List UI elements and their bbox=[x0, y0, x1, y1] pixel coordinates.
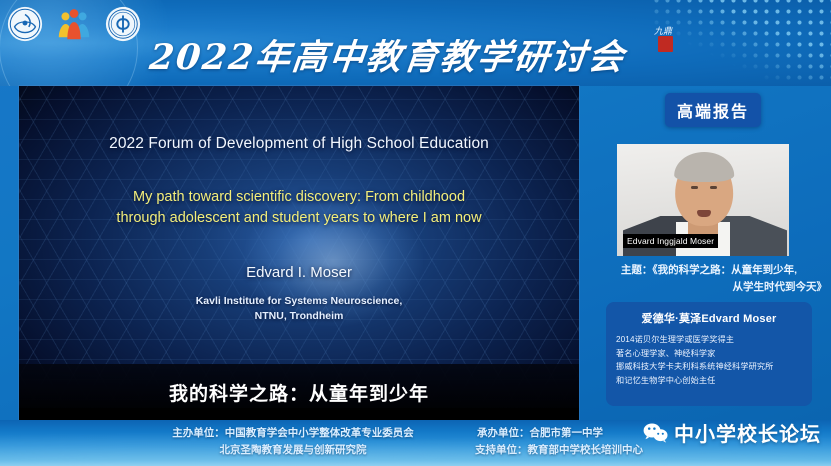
slide-affiliation: Kavli Institute for Systems Neuroscience… bbox=[19, 294, 579, 324]
red-seal-stamp bbox=[658, 36, 673, 52]
status-badge: 高端报告 bbox=[665, 93, 761, 127]
bio-line: 2014诺贝尔生理学或医学奖得主 bbox=[616, 333, 802, 347]
speaker-info-panel: 高端报告 Edvard Inggjald Moser 主题：《我的科学之路：从童… bbox=[585, 86, 831, 420]
watermark-label: 中小学校长论坛 bbox=[674, 418, 821, 447]
slide-affiliation-line2: NTNU, Trondheim bbox=[19, 309, 579, 324]
eye-right bbox=[710, 186, 717, 189]
bio-line: 著名心理学家、神经科学家 bbox=[616, 347, 802, 361]
slide-subtitle-line2: through adolescent and student years to … bbox=[19, 208, 579, 229]
speaker-bio-box: 爱德华·莫泽Edvard Moser 2014诺贝尔生理学或医学奖得主 著名心理… bbox=[606, 302, 812, 406]
slide-subtitle-line1: My path toward scientific discovery: Fro… bbox=[19, 187, 579, 208]
speaker-video-thumbnail[interactable]: Edvard Inggjald Moser bbox=[617, 144, 789, 256]
organizer-line2: 北京圣陶教育发展与创新研究院 bbox=[128, 442, 458, 459]
event-title-text: 2022年高中教育教学研讨会 bbox=[147, 29, 628, 80]
theme-line2: 从学生时代到今天》 bbox=[587, 279, 831, 296]
slide-forum-line: 2022 Forum of Development of High School… bbox=[19, 135, 579, 153]
video-name-tag: Edvard Inggjald Moser bbox=[623, 234, 718, 248]
bio-speaker-name: 爱德华·莫泽Edvard Moser bbox=[616, 310, 802, 326]
eye-left bbox=[691, 186, 698, 189]
slide-caption-text: 我的科学之路：从童年到少年 bbox=[169, 379, 429, 406]
presentation-slide[interactable]: 2022 Forum of Development of High School… bbox=[19, 86, 579, 420]
event-title: 2022年高中教育教学研讨会 bbox=[150, 26, 690, 82]
logo-group bbox=[6, 5, 142, 43]
header-banner: 2022年高中教育教学研讨会 九鼎 bbox=[0, 0, 831, 86]
organizer-line1: 主办单位：中国教育学会中小学整体改革专业委员会 bbox=[128, 425, 458, 442]
slide-affiliation-line1: Kavli Institute for Systems Neuroscience… bbox=[19, 294, 579, 309]
people-group-logo bbox=[55, 5, 93, 43]
presentation-theme: 主题：《我的科学之路：从童年到少年, 从学生时代到今天》 bbox=[587, 262, 831, 296]
wechat-icon bbox=[643, 422, 669, 444]
institute-logo bbox=[104, 5, 142, 43]
bio-line: 挪威科技大学卡夫利科系统神经科学研究所 bbox=[616, 360, 802, 374]
presentation-screenshot: 2022年高中教育教学研讨会 九鼎 2022 Forum of Developm… bbox=[0, 0, 831, 466]
slide-speaker-name: Edvard I. Moser bbox=[19, 264, 579, 281]
bio-line: 和记忆生物学中心创始主任 bbox=[616, 374, 802, 388]
organizer-info-left: 主办单位：中国教育学会中小学整体改革专业委员会 北京圣陶教育发展与创新研究院 bbox=[128, 425, 458, 459]
wechat-watermark: 中小学校长论坛 bbox=[643, 418, 821, 447]
theme-line1: 主题：《我的科学之路：从童年到少年, bbox=[587, 262, 831, 279]
slide-subtitle: My path toward scientific discovery: Fro… bbox=[19, 187, 579, 229]
mouth bbox=[697, 210, 711, 217]
china-education-society-logo bbox=[6, 5, 44, 43]
